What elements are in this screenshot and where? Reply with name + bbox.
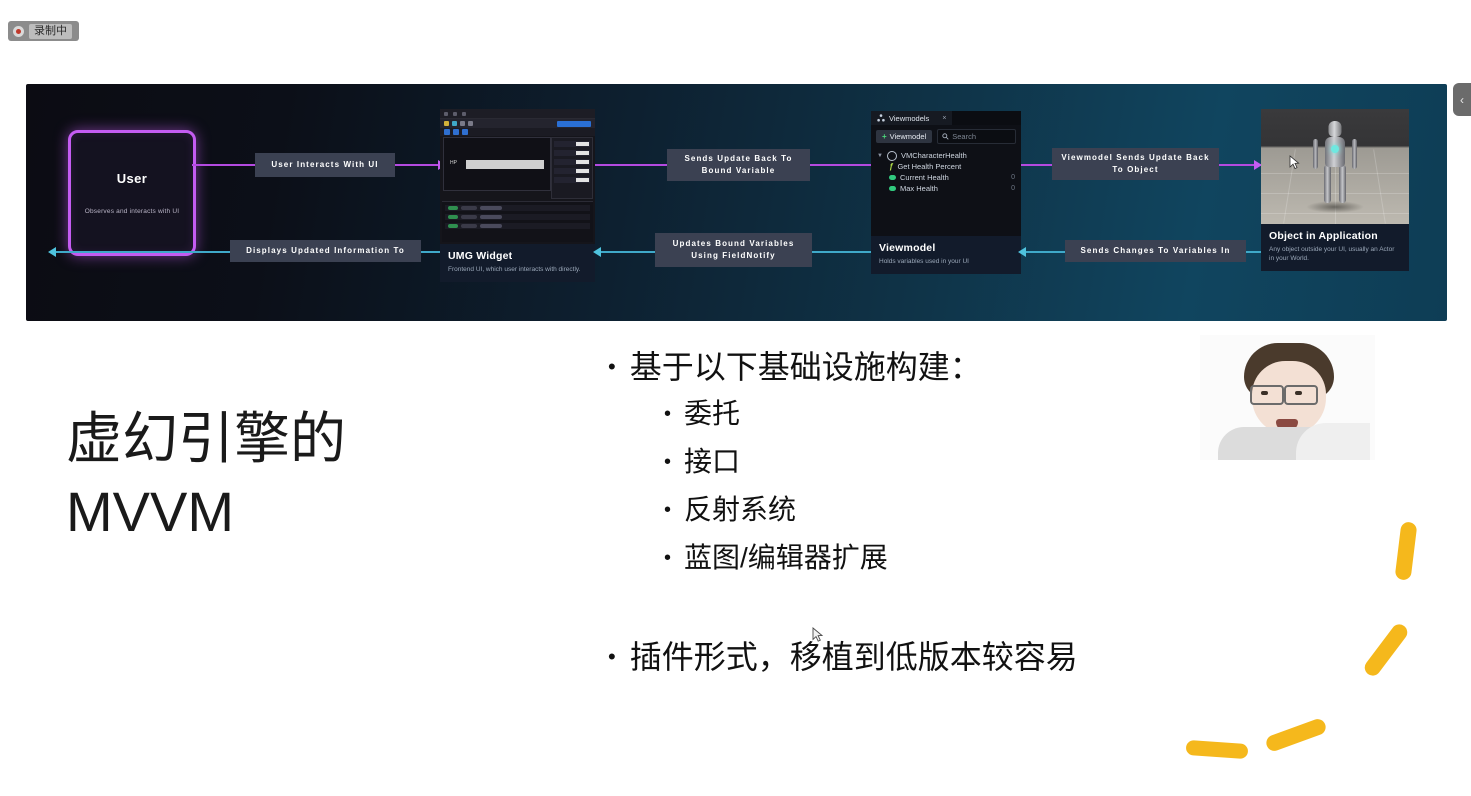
- bullet-list: • 基于以下基础设施构建： • 委托 • 接口 • 反射系统 • 蓝图/编辑器扩…: [608, 344, 1228, 680]
- viewmodel-caption-title: Viewmodel: [879, 242, 1013, 254]
- viewmodels-search-input[interactable]: Search: [937, 129, 1016, 144]
- bullet-subitem-2: • 反射系统: [664, 486, 1228, 534]
- page-title: 虚幻引擎的 MVVM: [66, 402, 496, 548]
- bullet-subitem-3: • 蓝图/编辑器扩展: [664, 534, 1228, 582]
- connector-label-vm-to-umg: Updates Bound Variables Using FieldNotif…: [655, 233, 812, 267]
- viewmodels-tree: ▼ VMCharacterHealth ƒ Get Health Percent…: [871, 147, 1021, 194]
- tree-value-3: 0: [1011, 185, 1015, 192]
- tree-row-current-health[interactable]: Current Health 0: [877, 172, 1021, 183]
- tree-row-get-health-percent[interactable]: ƒ Get Health Percent: [877, 161, 1021, 172]
- bullet-item-last: • 插件形式，移植到低版本较容易: [608, 634, 1228, 680]
- connector-umg-to-user-arrow: [48, 247, 56, 257]
- tree-label-1: Get Health Percent: [897, 162, 961, 171]
- search-icon: [942, 133, 949, 140]
- collapse-panel-button[interactable]: ‹: [1453, 83, 1471, 116]
- bullet-subtext-3: 蓝图/编辑器扩展: [684, 534, 888, 582]
- mouse-pointer-icon: [1289, 155, 1300, 170]
- bullet-subtext-2: 反射系统: [684, 486, 796, 534]
- presenter-glasses-right: [1284, 385, 1318, 405]
- viewmodels-toolbar: + Viewmodel Search: [871, 125, 1021, 147]
- diagram-node-object: Object in Application Any object outside…: [1261, 109, 1409, 271]
- viewmodels-tabrow: Viewmodels ×: [871, 111, 1021, 125]
- viewmodels-icon: [877, 114, 885, 122]
- object-caption-title: Object in Application: [1269, 230, 1401, 242]
- function-icon: ƒ: [889, 162, 893, 171]
- tab-viewmodels[interactable]: Viewmodels ×: [871, 111, 952, 125]
- mannequin-actor: [1305, 109, 1365, 217]
- close-icon[interactable]: ×: [942, 115, 946, 122]
- bullet-item-0: • 基于以下基础设施构建：: [608, 344, 1228, 390]
- tree-row-max-health[interactable]: Max Health 0: [877, 183, 1021, 194]
- connector-label-vm-to-object: Viewmodel Sends Update Back To Object: [1052, 148, 1219, 180]
- add-viewmodel-label: Viewmodel: [890, 132, 927, 141]
- recording-label: 录制中: [29, 24, 72, 39]
- presenter-glasses-left: [1250, 385, 1284, 405]
- bullet-glyph: •: [664, 390, 671, 438]
- bullet-glyph: •: [608, 634, 616, 680]
- bullet-glyph: •: [608, 344, 616, 390]
- diagram-node-umg-widget: HP UMG Widget Frontend UI,: [440, 109, 595, 282]
- umg-caption-title: UMG Widget: [448, 250, 587, 262]
- recording-badge: 录制中: [8, 21, 79, 41]
- bullet-text-0: 基于以下基础设施构建：: [630, 344, 982, 390]
- object-viewport-screenshot: [1261, 109, 1409, 224]
- add-viewmodel-button[interactable]: + Viewmodel: [876, 130, 932, 143]
- bullet-glyph: •: [664, 534, 671, 582]
- ue-toolbar: [440, 119, 595, 128]
- umg-caption-subtitle: Frontend UI, which user interacts with d…: [448, 265, 587, 274]
- presenter-shoulder: [1296, 423, 1370, 460]
- viewmodel-caption-subtitle: Holds variables used in your UI: [879, 257, 1013, 266]
- connector-object-to-vm-arrow: [1018, 247, 1026, 257]
- mvvm-flow-diagram: User Observes and interacts with UI User…: [26, 84, 1447, 321]
- object-caption-subtitle: Any object outside your UI, usually an A…: [1269, 245, 1401, 263]
- decor-arc-3: [1264, 717, 1328, 753]
- ue-graph-panel: [442, 201, 593, 242]
- user-node-title: User: [117, 171, 148, 186]
- user-node-subtitle: Observes and interacts with UI: [85, 208, 180, 215]
- bullet-subitem-1: • 接口: [664, 438, 1228, 486]
- ue-titlebar: [440, 109, 595, 119]
- connector-label-umg-to-vm: Sends Update Back To Bound Variable: [667, 149, 810, 181]
- chevron-down-icon[interactable]: ▼: [877, 153, 883, 159]
- ue-details-panel: [551, 137, 593, 199]
- connector-label-umg-to-user: Displays Updated Information To: [230, 240, 421, 262]
- bullet-subtext-1: 接口: [684, 438, 740, 486]
- decor-arc-2: [1362, 621, 1411, 679]
- class-icon: [887, 151, 897, 161]
- object-caption: Object in Application Any object outside…: [1261, 224, 1409, 271]
- page-title-line2: MVVM: [66, 475, 496, 548]
- decor-arc-4: [1186, 740, 1249, 759]
- connector-label-user-to-umg: User Interacts With UI: [255, 153, 395, 177]
- variable-icon: [889, 186, 896, 191]
- viewmodels-tab-label: Viewmodels: [889, 114, 929, 123]
- chevron-left-icon: ‹: [1460, 93, 1464, 107]
- bullet-subtext-0: 委托: [684, 390, 740, 438]
- ue-subtoolbar: [440, 128, 595, 136]
- viewmodel-caption: Viewmodel Holds variables used in your U…: [871, 236, 1021, 274]
- tree-value-2: 0: [1011, 174, 1015, 181]
- bullet-subitem-0: • 委托: [664, 390, 1228, 438]
- search-placeholder: Search: [952, 132, 976, 141]
- viewmodels-panel-screenshot: Viewmodels × + Viewmodel Search: [871, 111, 1021, 236]
- bullet-glyph: •: [664, 438, 671, 486]
- presenter-eye-right: [1295, 391, 1302, 395]
- bullet-glyph: •: [664, 486, 671, 534]
- variable-icon: [889, 175, 896, 180]
- ue-hp-label: HP: [450, 160, 457, 166]
- tree-row-vmcharacterhealth[interactable]: ▼ VMCharacterHealth: [877, 150, 1021, 161]
- diagram-node-viewmodel: Viewmodels × + Viewmodel Search: [871, 111, 1021, 274]
- tree-label-2: Current Health: [900, 173, 949, 182]
- connector-label-object-to-vm: Sends Changes To Variables In: [1065, 240, 1246, 262]
- ue-health-bar: [466, 160, 544, 169]
- diagram-node-user: User Observes and interacts with UI: [68, 130, 196, 256]
- webcam-overlay: [1200, 335, 1375, 460]
- umg-editor-screenshot: HP: [440, 109, 595, 244]
- plus-icon: +: [882, 133, 887, 141]
- connector-vm-to-umg-arrow: [593, 247, 601, 257]
- record-dot-icon: [13, 26, 24, 37]
- bullet-text-last: 插件形式，移植到低版本较容易: [630, 634, 1078, 680]
- tree-label-0: VMCharacterHealth: [901, 151, 967, 160]
- page-title-line1: 虚幻引擎的: [66, 402, 496, 475]
- presenter-eye-left: [1261, 391, 1268, 395]
- decor-arc-1: [1395, 521, 1418, 581]
- umg-caption: UMG Widget Frontend UI, which user inter…: [440, 244, 595, 282]
- tree-label-3: Max Health: [900, 184, 938, 193]
- ue-canvas: HP: [443, 137, 551, 191]
